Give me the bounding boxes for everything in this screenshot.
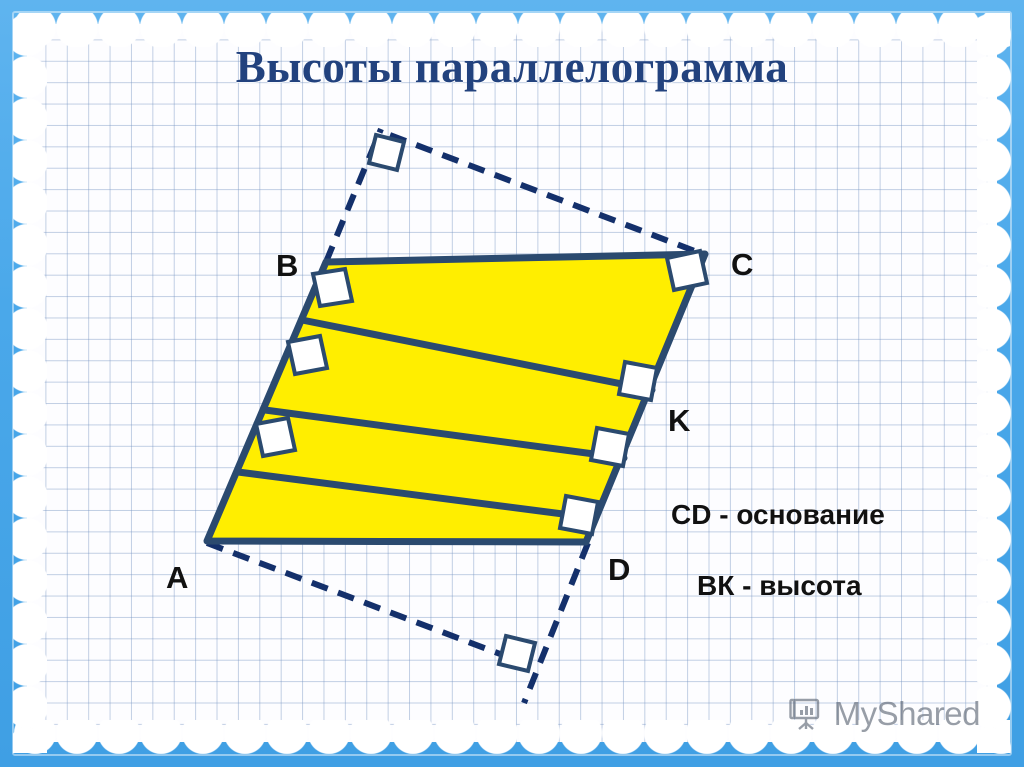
vertex-label-b: B bbox=[276, 250, 298, 281]
vertex-label-c: C bbox=[731, 249, 753, 280]
vertex-label-k: K bbox=[668, 405, 690, 436]
dashed-line-d-down bbox=[524, 543, 588, 703]
right-angle-marker-left-2 bbox=[256, 418, 295, 456]
presentation-board-icon bbox=[789, 697, 825, 731]
right-angle-marker-right-2 bbox=[591, 428, 629, 466]
watermark: MyShared bbox=[789, 695, 980, 733]
dashed-line-top-c bbox=[390, 135, 700, 253]
dashed-line-a-down bbox=[207, 543, 516, 660]
right-angle-marker-top-dashed bbox=[369, 135, 404, 170]
watermark-text: MyShared bbox=[834, 695, 980, 733]
legend-line-base: CD - основание bbox=[671, 501, 885, 529]
legend-line-height: ВК - высота bbox=[697, 572, 862, 600]
slide: Высоты параллелограмма bbox=[0, 0, 1024, 767]
right-angle-marker-right-1 bbox=[619, 362, 657, 400]
right-angle-marker-c bbox=[667, 251, 707, 290]
vertex-label-d: D bbox=[608, 554, 630, 585]
right-angle-marker-left-1 bbox=[288, 336, 327, 374]
vertex-label-a: A bbox=[166, 562, 188, 593]
right-angle-marker-b bbox=[313, 269, 352, 306]
right-angle-marker-bottom-dashed bbox=[499, 636, 535, 671]
right-angle-marker-right-3 bbox=[560, 496, 598, 534]
parallelogram-figure bbox=[0, 0, 1024, 767]
